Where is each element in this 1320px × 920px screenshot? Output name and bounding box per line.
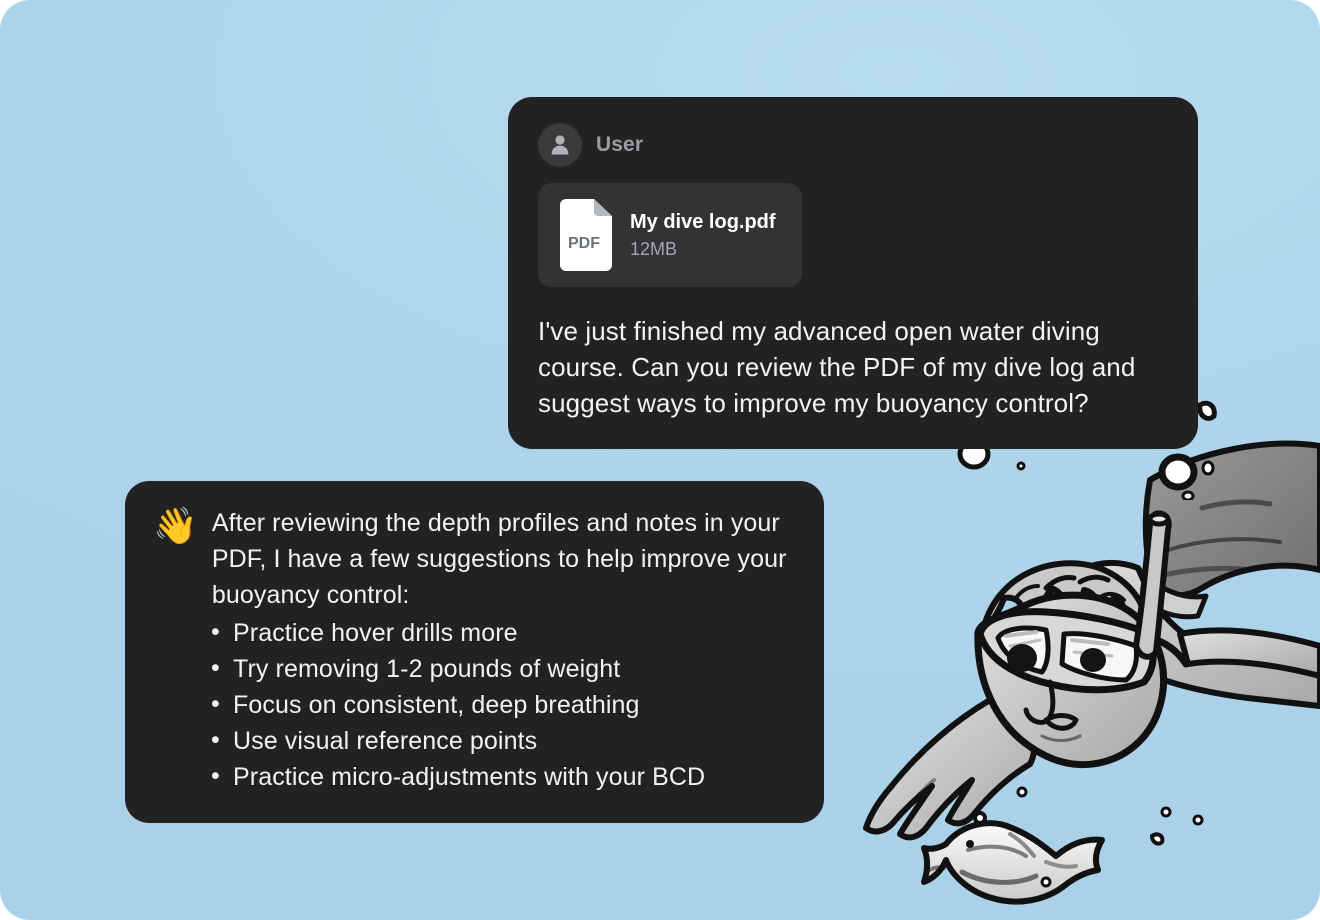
list-item: Try removing 1-2 pounds of weight	[211, 651, 796, 687]
user-message-bubble: User PDF My dive log.pdf 12MB I've just …	[508, 97, 1198, 449]
waving-hand-emoji: 👋	[153, 507, 198, 545]
svg-text:PDF: PDF	[568, 235, 600, 252]
user-message-text: I've just finished my advanced open wate…	[538, 313, 1168, 421]
assistant-intro-row: 👋 After reviewing the depth profiles and…	[153, 505, 796, 613]
attachment-filename: My dive log.pdf	[630, 211, 776, 233]
assistant-message-bubble: 👋 After reviewing the depth profiles and…	[125, 481, 824, 823]
pdf-file-icon: PDF	[556, 199, 612, 271]
user-message-header: User	[538, 123, 1168, 167]
snorkeler-diver-illustration	[850, 420, 1320, 920]
assistant-intro-text: After reviewing the depth profiles and n…	[212, 505, 796, 613]
list-item: Use visual reference points	[211, 723, 796, 759]
page-root: User PDF My dive log.pdf 12MB I've just …	[0, 0, 1320, 920]
list-item: Practice hover drills more	[211, 615, 796, 651]
attachment-filesize: 12MB	[630, 240, 776, 260]
list-item: Practice micro-adjustments with your BCD	[211, 759, 796, 795]
suggestions-list: Practice hover drills more Try removing …	[153, 615, 796, 795]
person-avatar-icon	[538, 123, 582, 167]
list-item: Focus on consistent, deep breathing	[211, 687, 796, 723]
attachment-card[interactable]: PDF My dive log.pdf 12MB	[538, 183, 802, 287]
message-author-label: User	[596, 133, 643, 157]
attachment-meta: My dive log.pdf 12MB	[630, 211, 776, 260]
